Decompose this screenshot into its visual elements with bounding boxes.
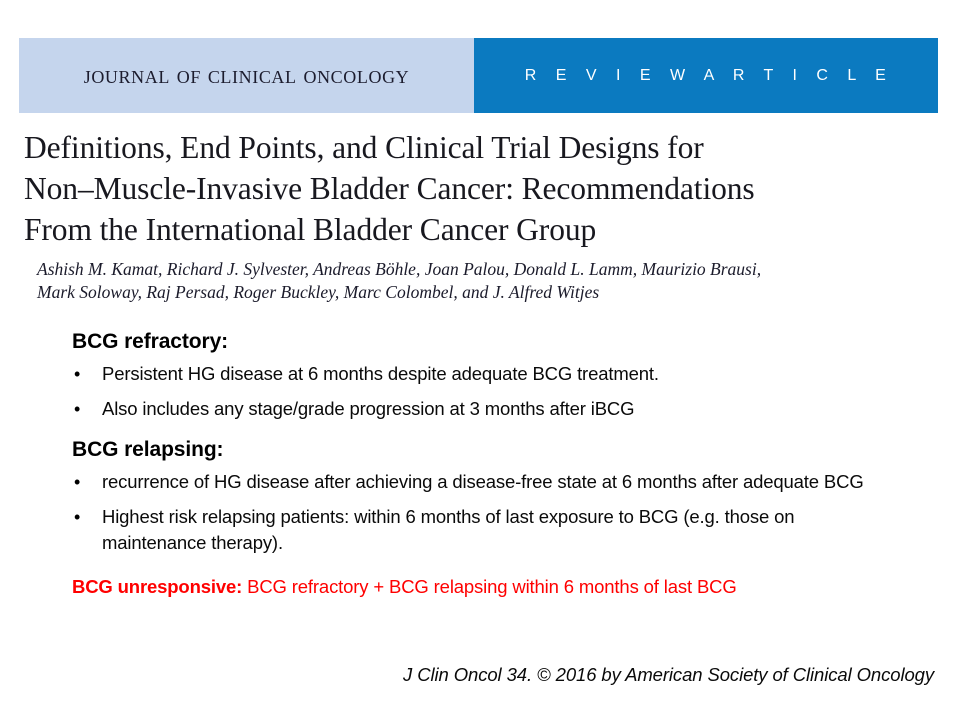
bullet-icon: • xyxy=(68,504,102,530)
spacer xyxy=(68,565,898,574)
bullet-icon: • xyxy=(68,361,102,387)
slide-content: BCG refractory: • Persistent HG disease … xyxy=(68,328,898,600)
author-line-1: Ashish M. Kamat, Richard J. Sylvester, A… xyxy=(37,258,927,281)
article-type-label: R E V I E W A R T I C L E xyxy=(519,67,894,85)
list-item: • Persistent HG disease at 6 months desp… xyxy=(68,361,898,387)
list-item: • recurrence of HG disease after achievi… xyxy=(68,469,898,495)
list-item: • Also includes any stage/grade progress… xyxy=(68,396,898,422)
bullet-icon: • xyxy=(68,396,102,422)
bullet-icon: • xyxy=(68,469,102,495)
article-title-line-2: Non–Muscle-Invasive Bladder Cancer: Reco… xyxy=(24,168,929,209)
article-title-line-1: Definitions, End Points, and Clinical Tr… xyxy=(24,127,929,168)
article-title: Definitions, End Points, and Clinical Tr… xyxy=(24,127,929,250)
footer-citation: J Clin Oncol 34. © 2016 by American Soci… xyxy=(403,664,934,686)
article-type-band: R E V I E W A R T I C L E xyxy=(474,38,938,113)
journal-name-band: Journal of Clinical Oncology xyxy=(19,38,474,113)
emphasis-rest-label: BCG refractory + BCG relapsing within 6 … xyxy=(242,576,736,597)
journal-header-banner: Journal of Clinical Oncology R E V I E W… xyxy=(19,38,938,113)
emphasis-lead-label: BCG unresponsive: xyxy=(72,576,242,597)
emphasis-line-bcg-unresponsive: BCG unresponsive: BCG refractory + BCG r… xyxy=(72,574,898,600)
list-item: • Highest risk relapsing patients: withi… xyxy=(68,504,898,556)
author-line-2: Mark Soloway, Raj Persad, Roger Buckley,… xyxy=(37,281,927,304)
article-title-line-3: From the International Bladder Cancer Gr… xyxy=(24,209,929,250)
list-item-text: recurrence of HG disease after achieving… xyxy=(102,469,898,495)
list-item-text: Also includes any stage/grade progressio… xyxy=(102,396,898,422)
journal-name-label: Journal of Clinical Oncology xyxy=(84,62,410,90)
section-heading-bcg-relapsing: BCG relapsing: xyxy=(72,436,898,463)
list-item-text: Highest risk relapsing patients: within … xyxy=(102,504,898,556)
section-heading-bcg-refractory: BCG refractory: xyxy=(72,328,898,355)
slide-root: { "header": { "journal_name": "Journal o… xyxy=(0,0,960,720)
list-item-text: Persistent HG disease at 6 months despit… xyxy=(102,361,898,387)
article-authors: Ashish M. Kamat, Richard J. Sylvester, A… xyxy=(37,258,927,304)
